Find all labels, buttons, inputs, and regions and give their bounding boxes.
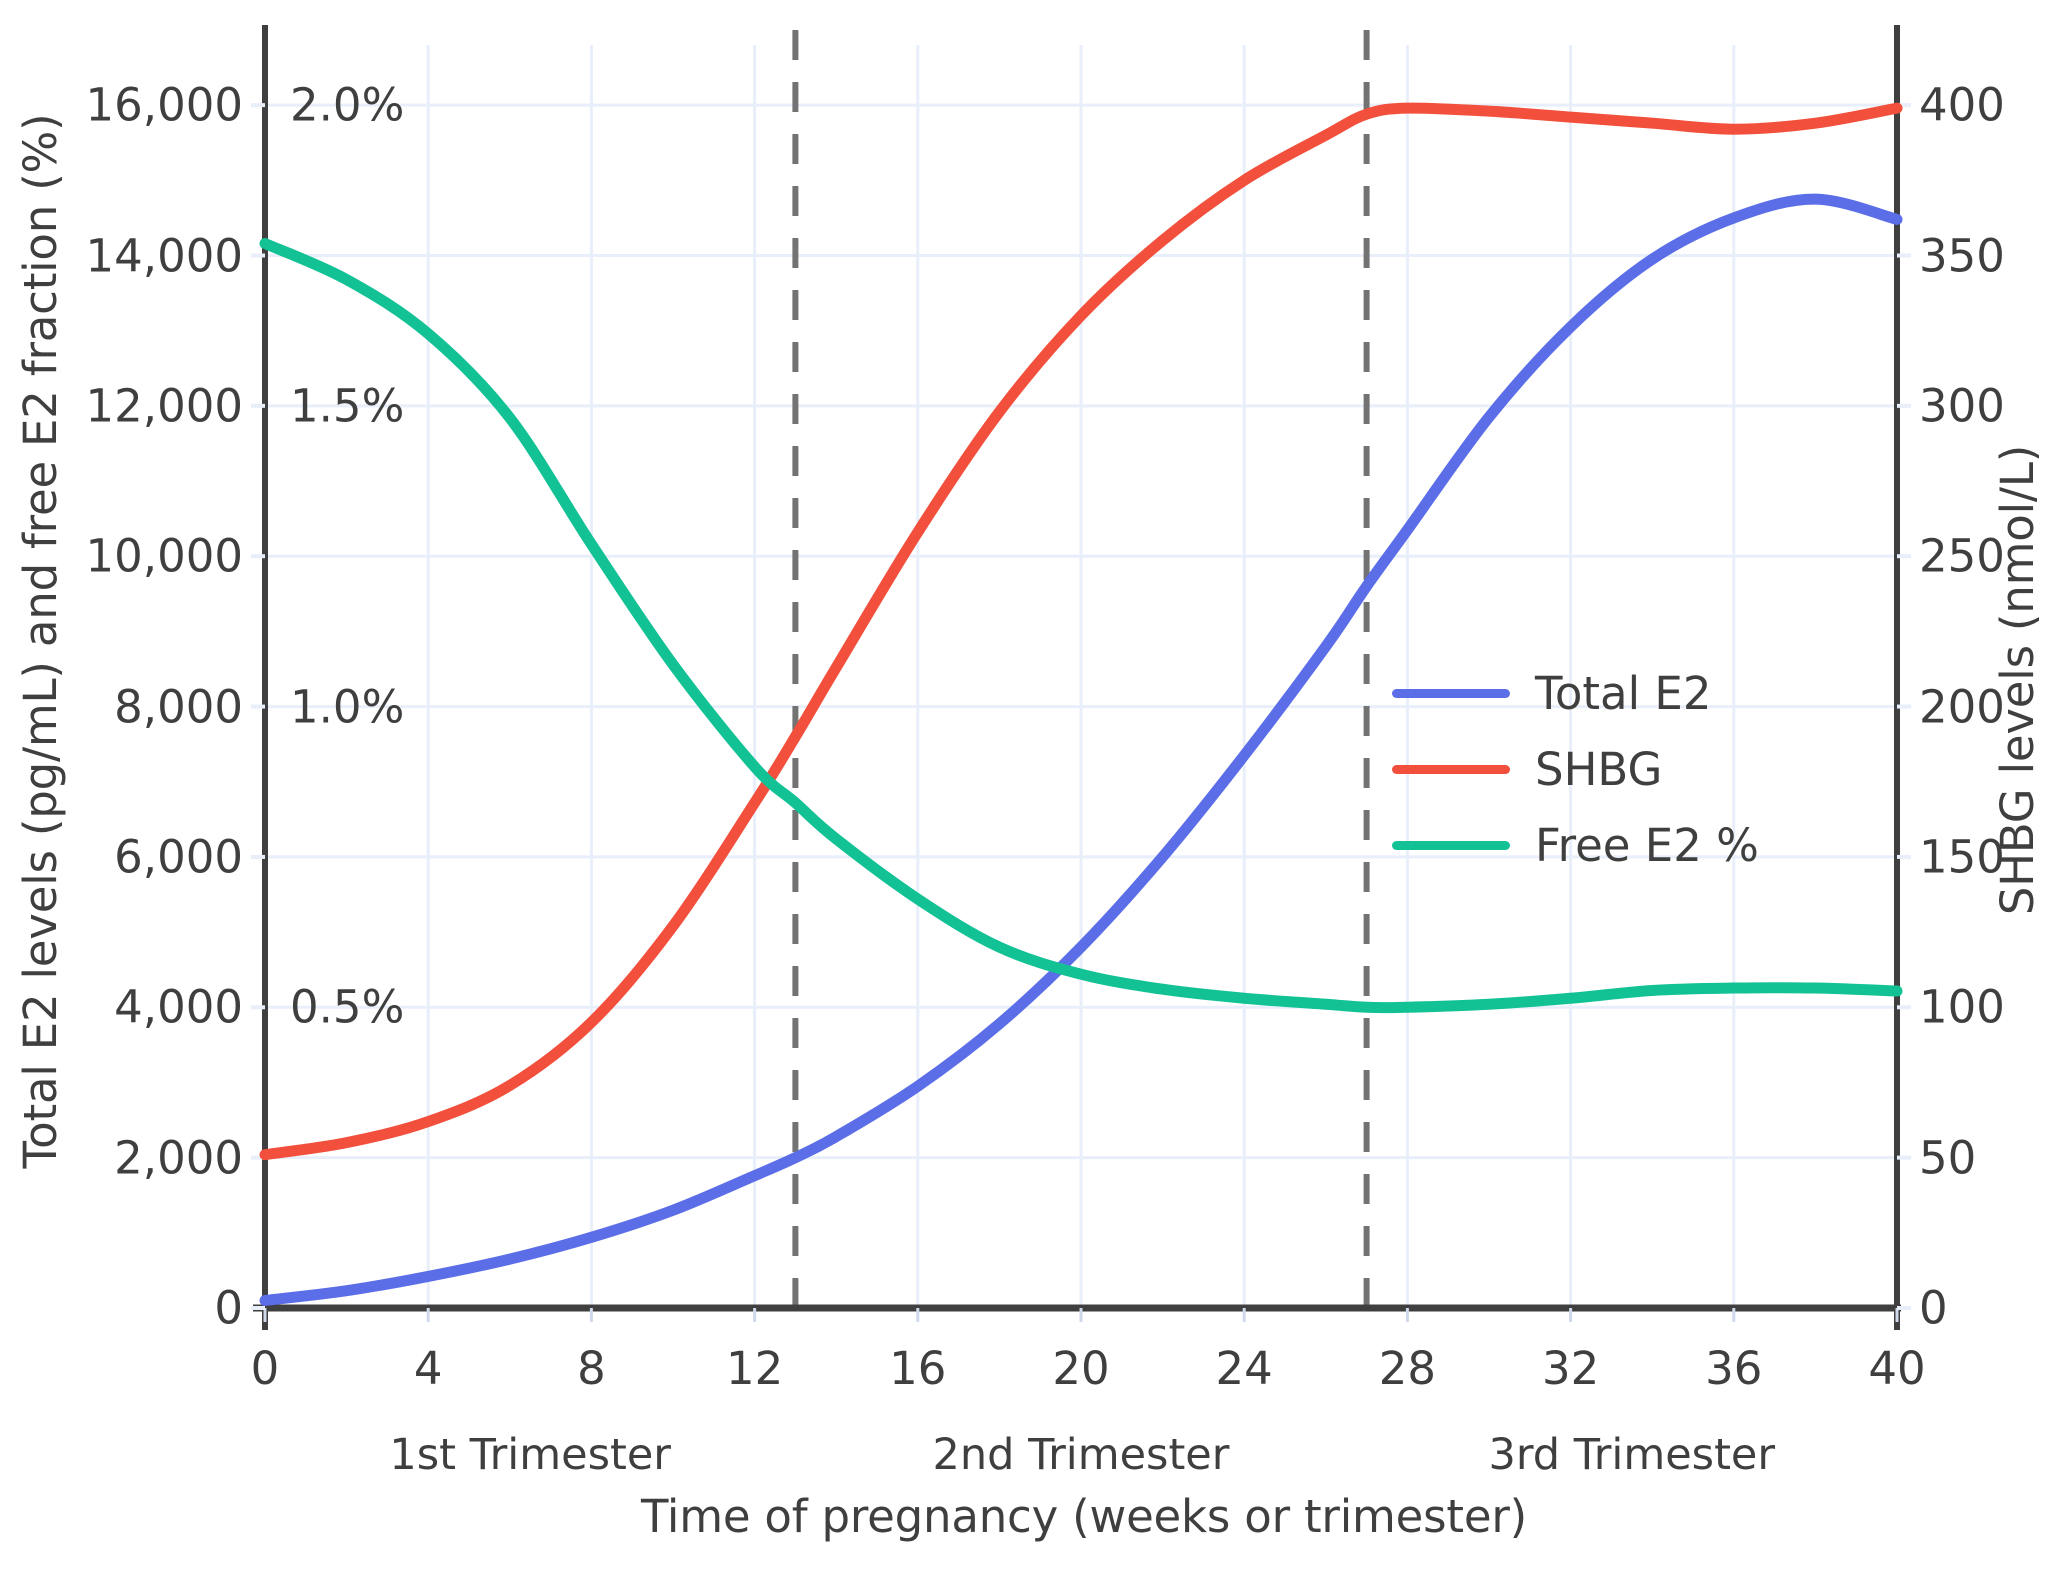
y-axis-right-tick-label: 50: [1919, 1135, 1976, 1180]
legend-color-swatch: [1392, 689, 1510, 698]
x-axis-tick-label: 36: [1705, 1346, 1762, 1391]
y-axis-left-tick-label: 8,000: [114, 684, 243, 729]
x-axis-tick-label: 24: [1216, 1346, 1273, 1391]
x-axis-tick-label: 32: [1542, 1346, 1599, 1391]
legend-item-label: Total E2: [1535, 667, 1711, 720]
y-axis-right-tick-label: 400: [1919, 83, 2005, 128]
legend-item-label: SHBG: [1535, 743, 1662, 796]
trimester-label: 3rd Trimester: [1489, 1430, 1776, 1480]
legend-item[interactable]: Free E2 %: [1392, 807, 1782, 883]
trimester-label: 2nd Trimester: [933, 1430, 1230, 1480]
legend-color-swatch: [1392, 841, 1510, 850]
y-axis-right-tick-label: 300: [1919, 383, 2005, 428]
y-axis-right-tick-label: 200: [1919, 684, 2005, 729]
y-axis-left-tick-label: 16,000: [86, 83, 243, 128]
x-axis-tick-label: 28: [1379, 1346, 1436, 1391]
y-axis-right-tick-label: 100: [1919, 985, 2005, 1030]
chart-figure: Total E2 levels (pg/mL) and free E2 frac…: [0, 0, 2048, 1582]
percent-annotation-label: 1.0%: [290, 680, 404, 733]
y-axis-left-tick-label: 2,000: [114, 1135, 243, 1180]
legend-item-label: Free E2 %: [1535, 819, 1759, 872]
percent-annotation-label: 0.5%: [290, 981, 404, 1034]
y-axis-right-tick-label: 150: [1919, 834, 2005, 879]
y-axis-left-tick-label: 10,000: [86, 534, 243, 579]
x-axis-tick-label: 40: [1868, 1346, 1925, 1391]
x-axis-tick-label: 12: [726, 1346, 783, 1391]
y-axis-left-tick-label: 6,000: [114, 834, 243, 879]
percent-annotation-label: 2.0%: [290, 79, 404, 132]
x-axis-tick-label: 4: [414, 1346, 443, 1391]
y-axis-left-tick-label: 4,000: [114, 985, 243, 1030]
y-axis-right-tick-label: 0: [1919, 1286, 1948, 1331]
y-axis-right-tick-label: 250: [1919, 534, 2005, 579]
chart-legend: Total E2SHBGFree E2 %: [1392, 655, 1782, 883]
x-axis-tick-label: 20: [1052, 1346, 1109, 1391]
y-axis-right-tick-label: 350: [1919, 233, 2005, 278]
y-axis-left-tick-label: 14,000: [86, 233, 243, 278]
y-axis-left-tick-label: 0: [214, 1286, 243, 1331]
x-axis-tick-label: 16: [889, 1346, 946, 1391]
percent-annotation-label: 1.5%: [290, 379, 404, 432]
y-axis-left-title: Total E2 levels (pg/mL) and free E2 frac…: [10, 0, 72, 1282]
x-axis-title: Time of pregnancy (weeks or trimester): [264, 1490, 1904, 1543]
trimester-label: 1st Trimester: [389, 1430, 671, 1480]
x-axis-tick-label: 0: [251, 1346, 280, 1391]
legend-item[interactable]: Total E2: [1392, 655, 1782, 731]
legend-item[interactable]: SHBG: [1392, 731, 1782, 807]
y-axis-left-tick-label: 12,000: [86, 383, 243, 428]
x-axis-tick-label: 8: [577, 1346, 606, 1391]
legend-color-swatch: [1392, 765, 1510, 774]
